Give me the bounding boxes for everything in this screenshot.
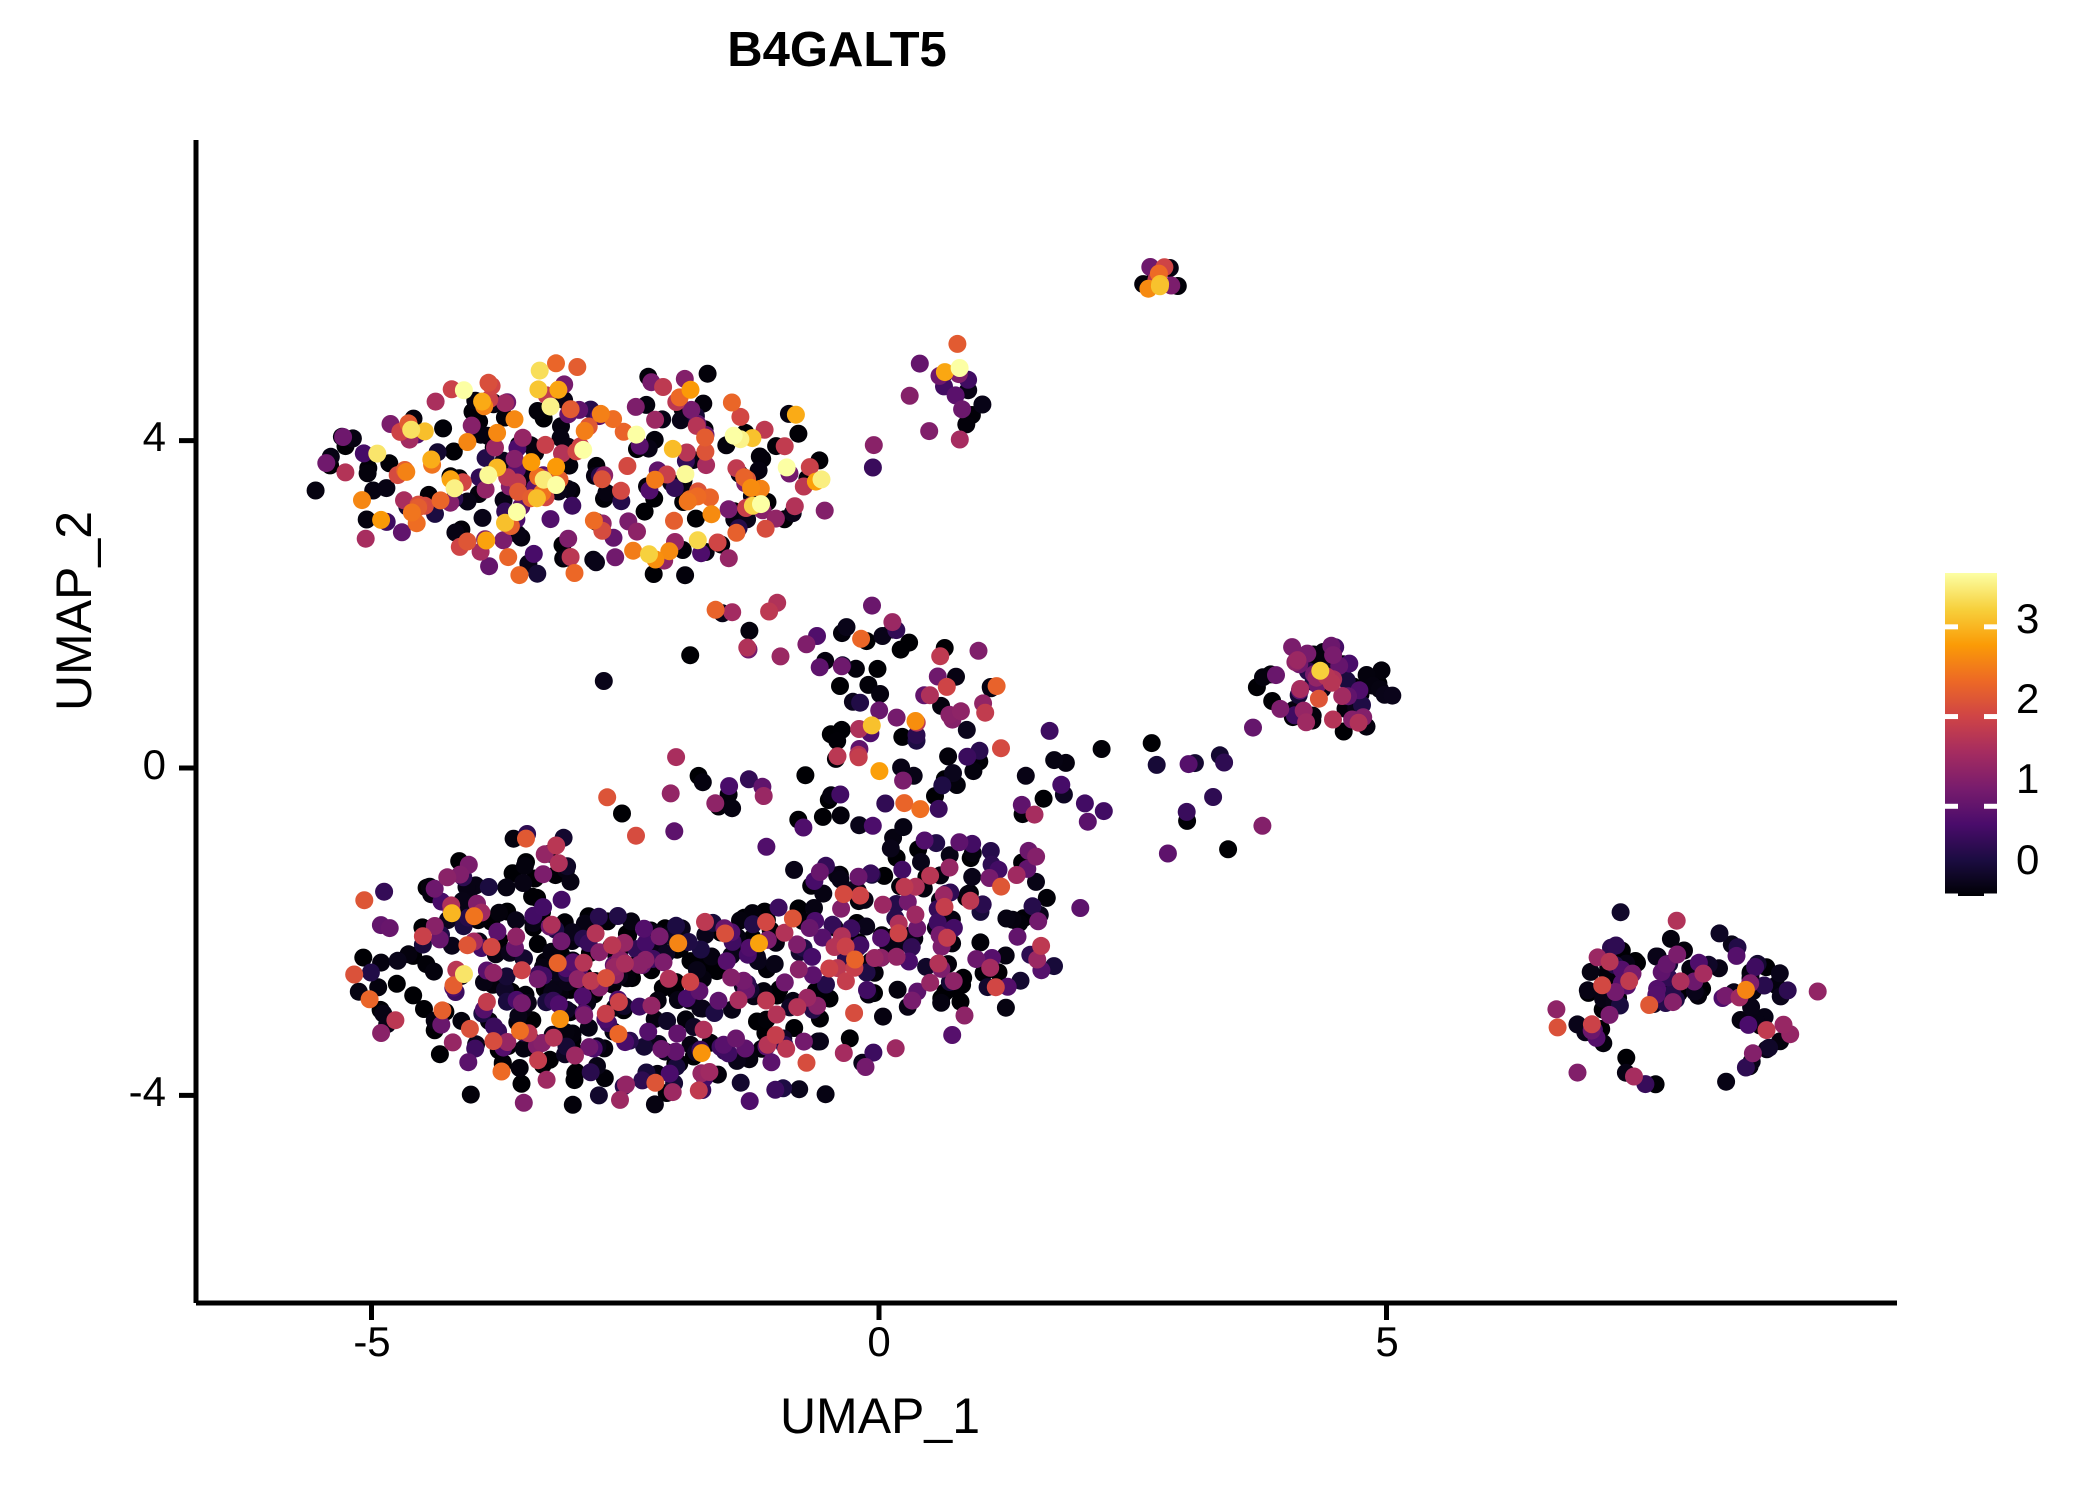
colorbar	[1945, 573, 1997, 896]
x-tick-label: 0	[819, 1318, 939, 1366]
x-tick-label: -5	[312, 1318, 432, 1366]
axis-tick-marks	[179, 441, 1387, 1320]
colorbar-tick-label: 1	[2016, 755, 2039, 803]
x-axis-title: UMAP_1	[660, 1387, 1100, 1445]
colorbar-tick-label: 0	[2016, 836, 2039, 884]
scatter-points	[307, 258, 1827, 1114]
colorbar-tick-label: 3	[2016, 595, 2039, 643]
axis-lines	[196, 140, 1897, 1303]
x-tick-label: 5	[1327, 1318, 1447, 1366]
y-tick-label: -4	[46, 1068, 166, 1116]
colorbar-tick-label: 2	[2016, 675, 2039, 723]
scatter-panel	[0, 0, 2100, 1500]
y-axis-title: UMAP_2	[45, 391, 103, 831]
umap-figure: B4GALT5	[0, 0, 2100, 1500]
